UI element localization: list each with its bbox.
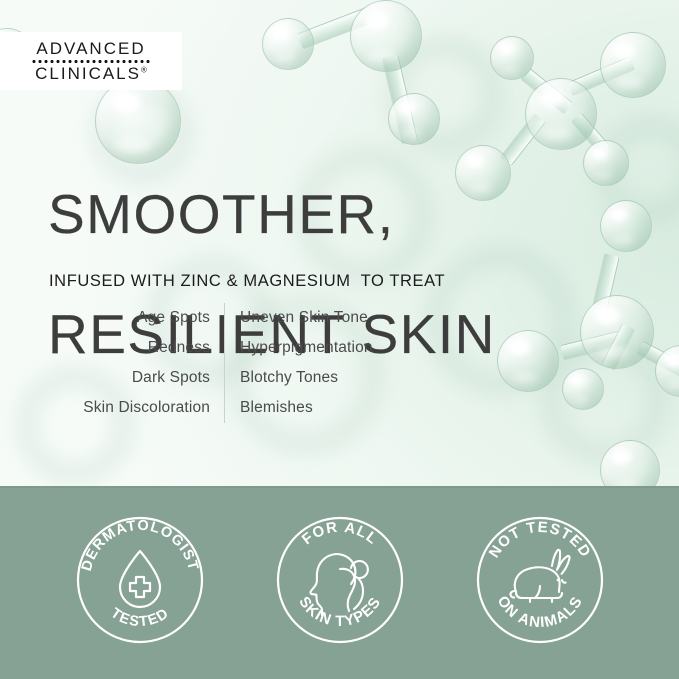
list-item: Redness [40, 333, 210, 363]
brand-logo-line2: CLINICALS® [35, 65, 147, 82]
molecule-sphere [262, 18, 314, 70]
badge-bottom-label: TESTED [108, 605, 173, 630]
badge-bottom-label: SKIN TYPES [295, 594, 384, 630]
hero-subtitle: INFUSED WITH ZINC & MAGNESIUM TO TREAT [49, 272, 445, 291]
list-item: Uneven Skin Tone [240, 303, 373, 333]
rabbit-icon [511, 550, 570, 602]
brand-logo-dotted-rule [31, 59, 151, 64]
badge-top-label: DERMATOLOGIST [79, 518, 201, 573]
list-item: Age Spots [40, 303, 210, 333]
brand-logo-line1: ADVANCED [36, 40, 145, 57]
molecule-sphere [600, 440, 660, 486]
list-item: Skin Discoloration [40, 393, 210, 423]
badge-dermatologist-tested: DERMATOLOGIST TESTED [74, 514, 206, 646]
list-item: Hyperpigmentation [240, 333, 373, 363]
molecule-sphere [600, 32, 666, 98]
list-item: Dark Spots [40, 363, 210, 393]
hero-panel: ADVANCED CLINICALS® SMOOTHER, RESILIENT … [0, 0, 679, 486]
registered-trademark-icon: ® [141, 65, 147, 74]
badge-row: DERMATOLOGIST TESTED [0, 486, 679, 679]
concerns-right-column: Uneven Skin Tone Hyperpigmentation Blotc… [225, 303, 373, 423]
molecule-sphere [350, 0, 422, 72]
badge-not-tested-on-animals-graphic: NOT TESTED ON ANIMALS [474, 514, 606, 646]
badge-dermatologist-tested-graphic: DERMATOLOGIST TESTED [74, 514, 206, 646]
badge-top-label: FOR ALL [299, 519, 381, 548]
badge-for-all-skin-types: FOR ALL SKIN TYPES [274, 514, 406, 646]
woman-face-profile-icon [311, 554, 368, 615]
marketing-infographic: ADVANCED CLINICALS® SMOOTHER, RESILIENT … [0, 0, 679, 679]
droplet-with-medical-cross-icon [120, 551, 160, 607]
concerns-list: Age Spots Redness Dark Spots Skin Discol… [40, 303, 400, 423]
list-item: Blotchy Tones [240, 363, 373, 393]
molecule-sphere [490, 36, 534, 80]
badge-for-all-skin-types-graphic: FOR ALL SKIN TYPES [274, 514, 406, 646]
trust-badges-band: DERMATOLOGIST TESTED [0, 486, 679, 679]
badge-top-label: NOT TESTED [486, 519, 595, 561]
headline-line-1: SMOOTHER, [48, 184, 658, 244]
badge-not-tested-on-animals: NOT TESTED ON ANIMALS [474, 514, 606, 646]
list-item: Blemishes [240, 393, 373, 423]
brand-logo: ADVANCED CLINICALS® [0, 32, 182, 90]
concerns-left-column: Age Spots Redness Dark Spots Skin Discol… [40, 303, 224, 423]
brand-logo-line2-text: CLINICALS [35, 64, 141, 83]
